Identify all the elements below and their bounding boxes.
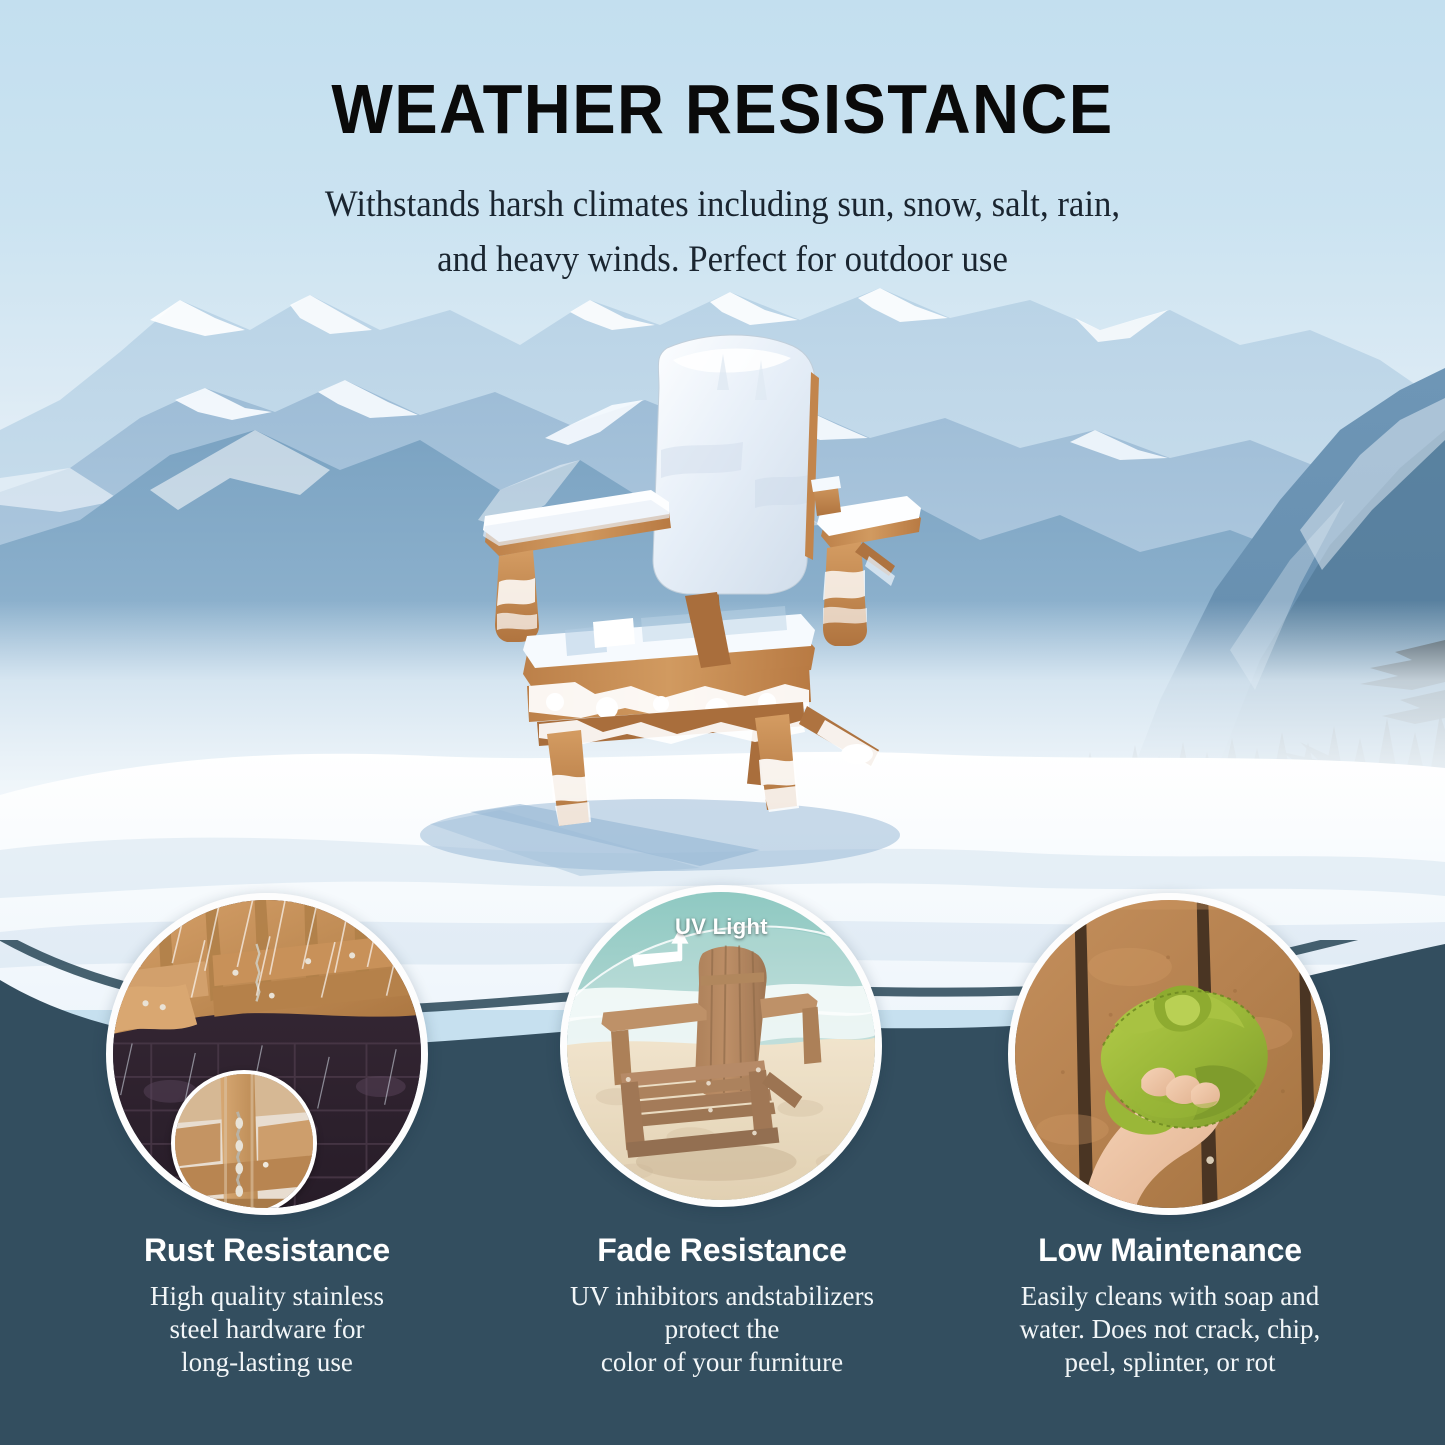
adirondack-chair-snowy bbox=[455, 330, 955, 830]
feature-text-fade-resistance: Fade Resistance UV inhibitors andstabili… bbox=[512, 1232, 932, 1379]
subtitle-line-1: Withstands harsh climates including sun,… bbox=[43, 178, 1401, 233]
page-subtitle: Withstands harsh climates including sun,… bbox=[43, 178, 1401, 288]
feature-body: High quality stainless steel hardware fo… bbox=[57, 1280, 477, 1379]
feature-image-rust-resistance bbox=[106, 893, 428, 1215]
cleaning-cloth-illustration bbox=[1015, 900, 1323, 1208]
mountain-scene bbox=[0, 0, 1445, 1010]
hero-chair-image bbox=[455, 330, 955, 830]
subtitle-line-2: and heavy winds. Perfect for outdoor use bbox=[43, 233, 1401, 288]
chain-closeup-inset bbox=[171, 1070, 317, 1215]
feature-title: Fade Resistance bbox=[512, 1232, 932, 1269]
feature-title: Rust Resistance bbox=[57, 1232, 477, 1269]
feature-image-fade-resistance: UV Light bbox=[560, 885, 882, 1207]
infographic-canvas: WEATHER RESISTANCE Withstands harsh clim… bbox=[0, 0, 1445, 1445]
feature-image-low-maintenance bbox=[1008, 893, 1330, 1215]
feature-body: Easily cleans with soap and water. Does … bbox=[960, 1280, 1380, 1379]
uv-light-label: UV Light bbox=[675, 914, 768, 940]
stainless-chain-illustration bbox=[175, 1074, 313, 1212]
feature-text-rust-resistance: Rust Resistance High quality stainless s… bbox=[57, 1232, 477, 1379]
feature-title: Low Maintenance bbox=[960, 1232, 1380, 1269]
feature-text-low-maintenance: Low Maintenance Easily cleans with soap … bbox=[960, 1232, 1380, 1379]
page-title: WEATHER RESISTANCE bbox=[51, 74, 1395, 144]
feature-body: UV inhibitors andstabilizers protect the… bbox=[512, 1280, 932, 1379]
